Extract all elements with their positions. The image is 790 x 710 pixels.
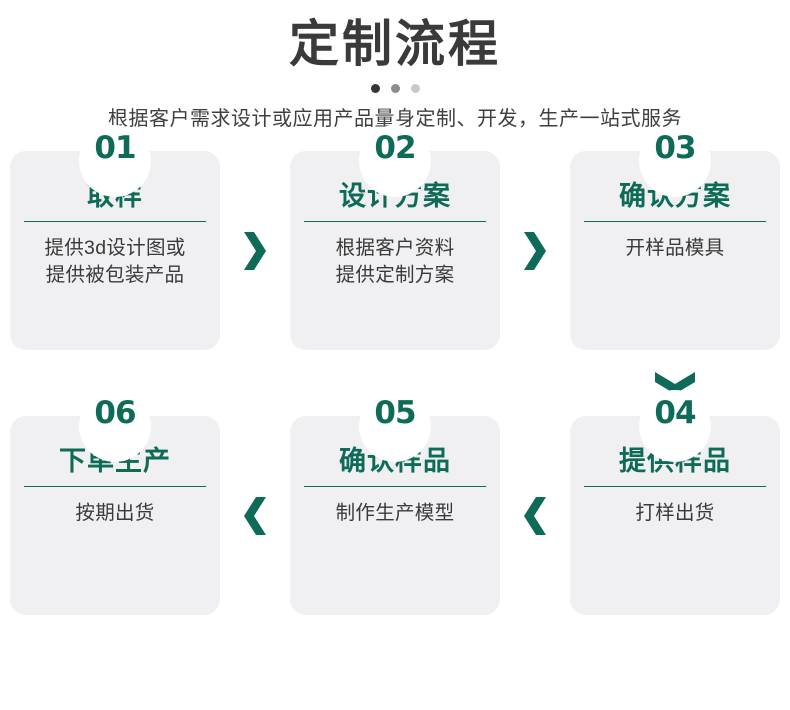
step-card-05[interactable]: 05 确认样品 制作生产模型 bbox=[290, 416, 500, 615]
step-card-06[interactable]: 06 下单生产 按期出货 bbox=[10, 416, 220, 615]
step-divider bbox=[24, 221, 206, 222]
header: 定制流程 根据客户需求设计或应用产品量身定制、开发，生产一站式服务 bbox=[0, 0, 790, 131]
step-number: 01 bbox=[79, 133, 151, 164]
step-card-01[interactable]: 01 取样 提供3d设计图或 提供被包装产品 bbox=[10, 151, 220, 350]
step-number: 06 bbox=[79, 398, 151, 429]
dot-medium-icon bbox=[391, 84, 400, 93]
step-description-line: 提供定制方案 bbox=[302, 262, 488, 289]
step-divider bbox=[24, 486, 206, 487]
arrow-step5-to-step6 bbox=[220, 416, 290, 615]
step-number: 03 bbox=[639, 133, 711, 164]
step-description: 提供3d设计图或 提供被包装产品 bbox=[22, 235, 208, 289]
step-number: 02 bbox=[359, 133, 431, 164]
step-divider bbox=[304, 221, 486, 222]
dot-light-icon bbox=[411, 84, 420, 93]
arrow-step2-to-step3 bbox=[500, 151, 570, 350]
step-card-02[interactable]: 02 设计方案 根据客户资料 提供定制方案 bbox=[290, 151, 500, 350]
step-description-line: 打样出货 bbox=[582, 500, 768, 527]
step-description: 制作生产模型 bbox=[302, 500, 488, 527]
flow-row-top: 01 取样 提供3d设计图或 提供被包装产品 02 设计方案 根据 bbox=[10, 151, 780, 350]
step-description-line: 开样品模具 bbox=[582, 235, 768, 262]
step-divider bbox=[584, 221, 766, 222]
step-description: 开样品模具 bbox=[582, 235, 768, 262]
step-description-line: 制作生产模型 bbox=[302, 500, 488, 527]
arrow-step1-to-step2 bbox=[220, 151, 290, 350]
step-description-line: 提供被包装产品 bbox=[22, 262, 208, 289]
step-description: 按期出货 bbox=[22, 500, 208, 527]
step-description: 根据客户资料 提供定制方案 bbox=[302, 235, 488, 289]
arrow-step4-to-step5 bbox=[500, 416, 570, 615]
step-divider bbox=[304, 486, 486, 487]
dot-dark-icon bbox=[371, 84, 380, 93]
step-description-line: 按期出货 bbox=[22, 500, 208, 527]
process-flow: 01 取样 提供3d设计图或 提供被包装产品 02 设计方案 根据 bbox=[0, 151, 790, 615]
step-description: 打样出货 bbox=[582, 500, 768, 527]
step-divider bbox=[584, 486, 766, 487]
step-card-04[interactable]: 04 提供样品 打样出货 bbox=[570, 416, 780, 615]
step-number: 04 bbox=[639, 398, 711, 429]
dot-decoration bbox=[0, 84, 790, 93]
page-title: 定制流程 bbox=[0, 14, 790, 74]
flow-row-bottom: 06 下单生产 按期出货 05 确认样品 制作生产模型 bbox=[10, 416, 780, 615]
step-description-line: 根据客户资料 bbox=[302, 235, 488, 262]
step-card-03[interactable]: 03 确认方案 开样品模具 bbox=[570, 151, 780, 350]
step-description-line: 提供3d设计图或 bbox=[22, 235, 208, 262]
step-number: 05 bbox=[359, 398, 431, 429]
